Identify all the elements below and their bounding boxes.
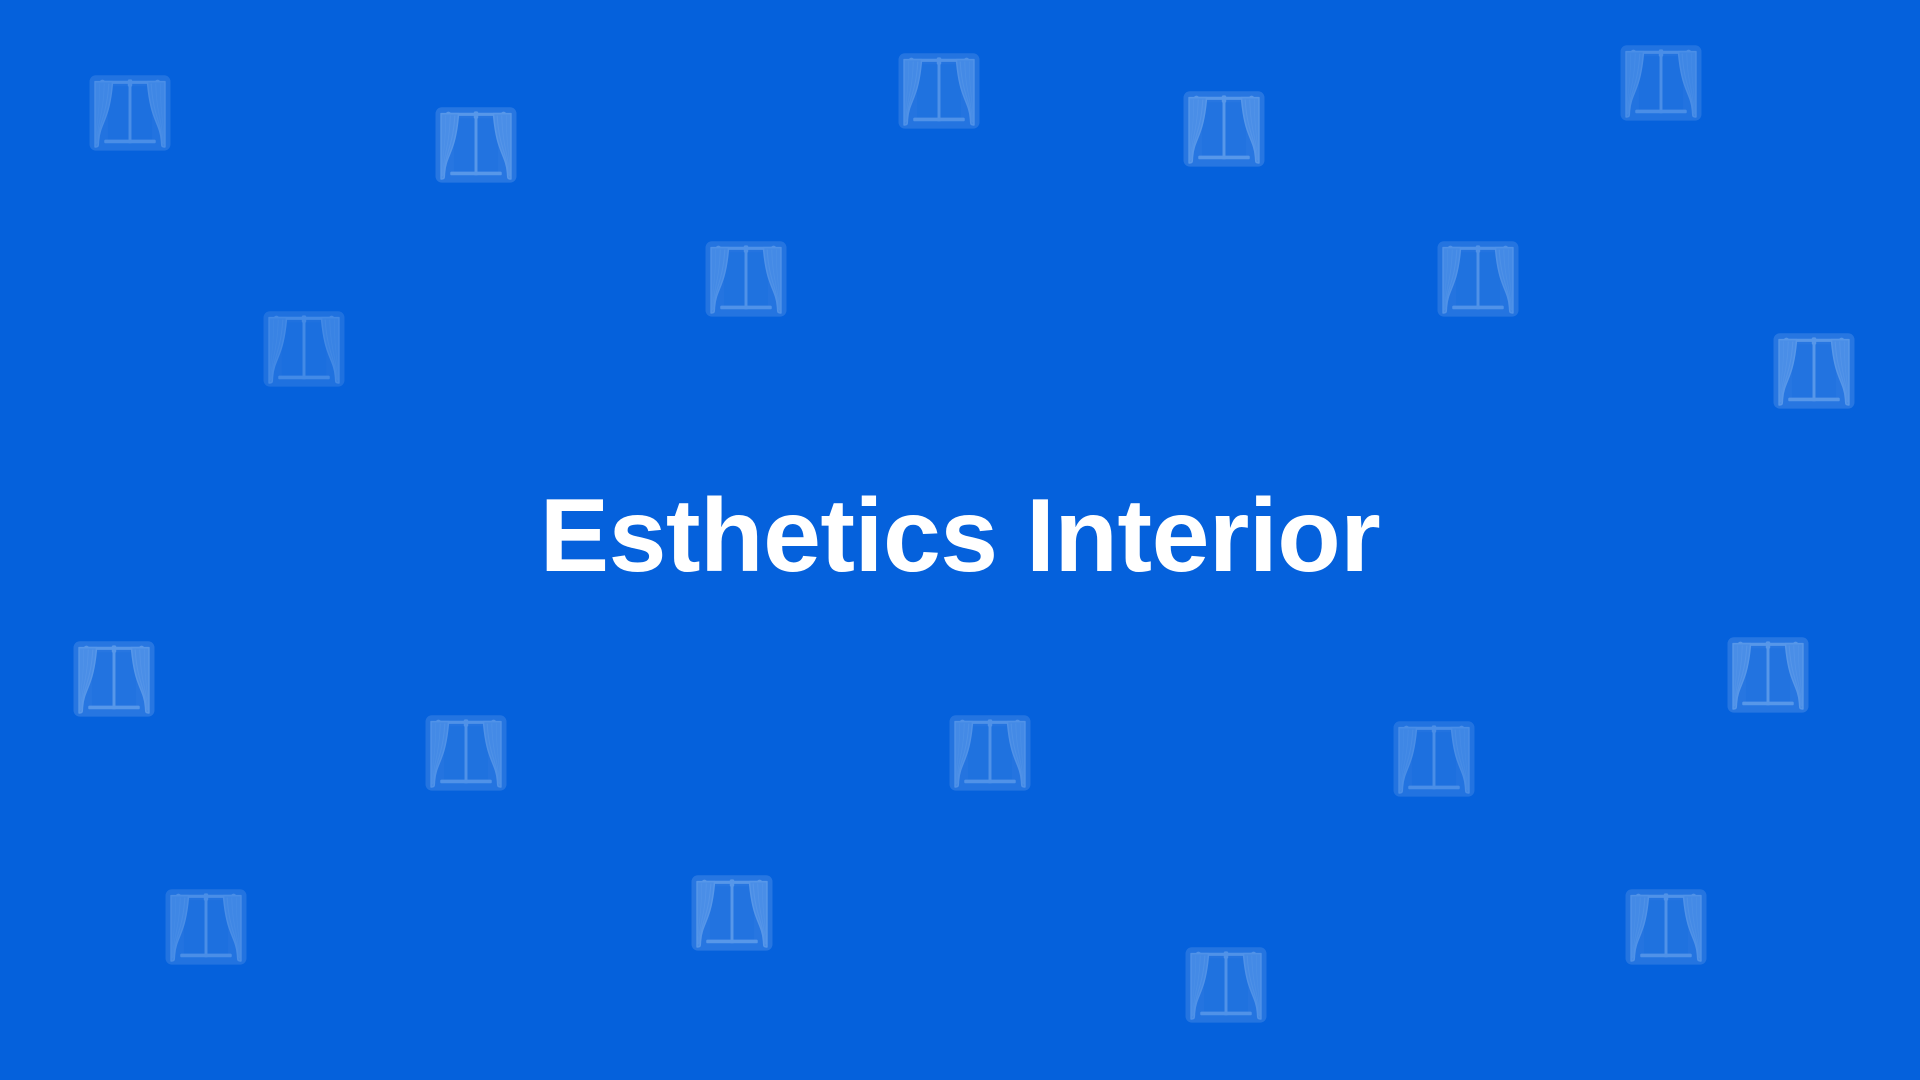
title-container: Esthetics Interior (0, 0, 1920, 1080)
page-title: Esthetics Interior (540, 484, 1381, 588)
banner-canvas: Esthetics Interior (0, 0, 1920, 1080)
